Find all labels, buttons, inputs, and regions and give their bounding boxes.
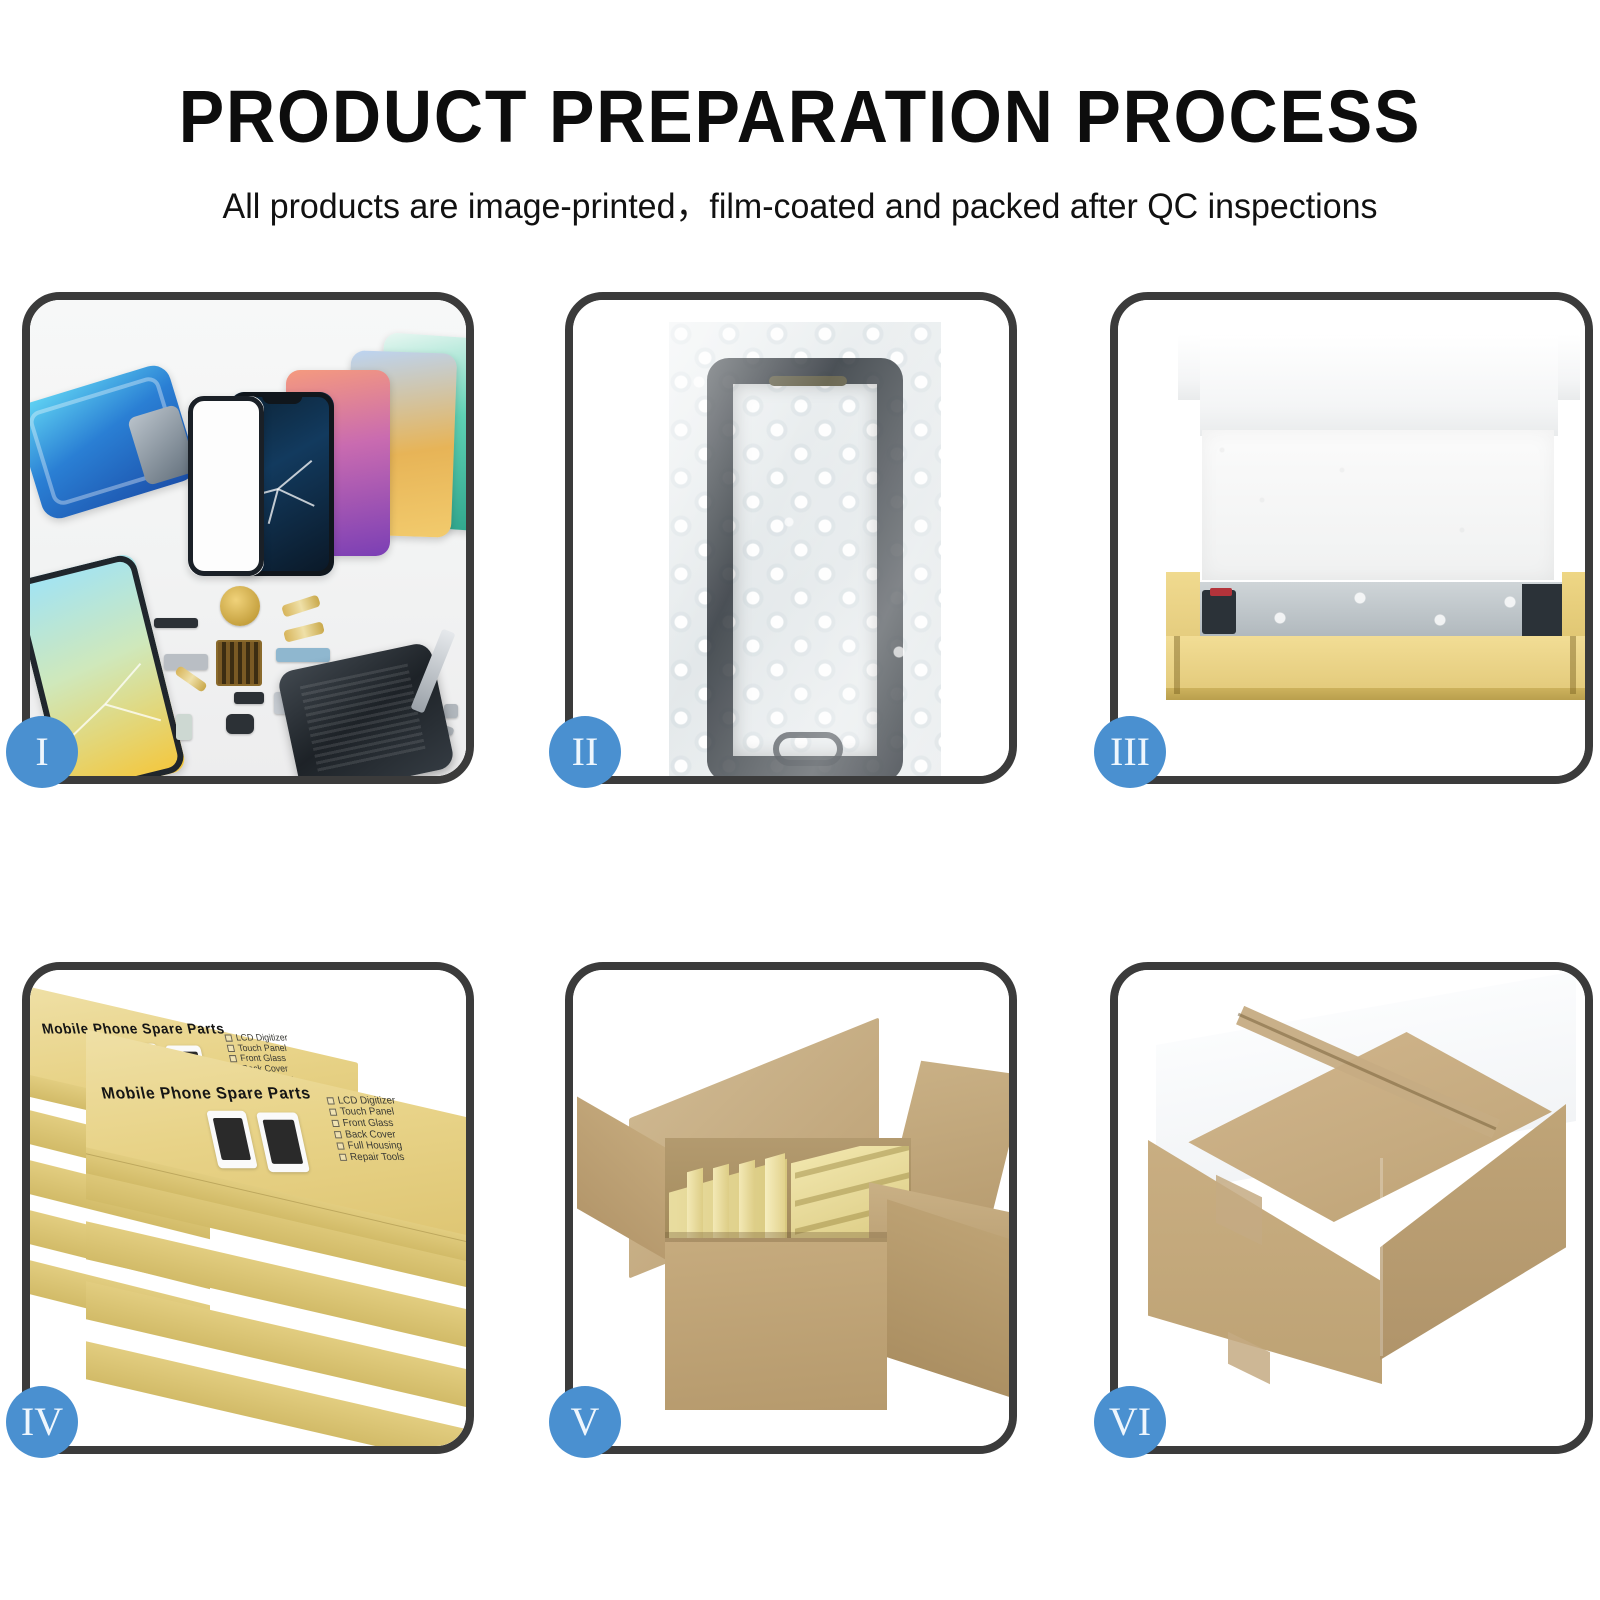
poster-root: PRODUCT PREPARATION PROCESS All products…: [0, 0, 1600, 1600]
step-badge-3: III: [1094, 716, 1166, 788]
checklist-item: LCD Digitizer: [235, 1032, 289, 1042]
panel-5-image: [573, 970, 1009, 1446]
panel-4-image: Mobile Phone Spare Parts LCD Digitizer T…: [30, 970, 466, 1446]
checklist-item: LCD Digitizer: [337, 1095, 397, 1106]
stacked-gold-boxes-icon: Mobile Phone Spare Parts LCD Digitizer T…: [30, 970, 466, 1446]
process-step-3[interactable]: III: [1110, 292, 1593, 784]
checklist-item: Full Housing: [347, 1140, 404, 1151]
process-step-6[interactable]: VI: [1110, 962, 1593, 1454]
step-badge-6: VI: [1094, 1386, 1166, 1458]
process-step-4[interactable]: Mobile Phone Spare Parts LCD Digitizer T…: [22, 962, 474, 1454]
checklist-item: Touch Panel: [339, 1107, 395, 1118]
step-badge-4: IV: [6, 1386, 78, 1458]
phone-parts-collage-icon: [30, 300, 466, 776]
step-badge-5: V: [549, 1386, 621, 1458]
sealed-carton-icon: [1118, 970, 1585, 1446]
checklist-item: Back Cover: [344, 1129, 397, 1140]
bubble-wrapped-screen-icon: [573, 300, 1009, 776]
retail-box-brand-text: Mobile Phone Spare Parts: [100, 1085, 313, 1103]
open-carton-icon: [573, 970, 1009, 1446]
process-step-5[interactable]: V: [565, 962, 1017, 1454]
process-grid: I II: [0, 0, 1600, 1600]
process-step-2[interactable]: II: [565, 292, 1017, 784]
step-badge-2: II: [549, 716, 621, 788]
step-badge-1: I: [6, 716, 78, 788]
checklist-item: Front Glass: [342, 1118, 395, 1129]
panel-1-image: [30, 300, 466, 776]
checklist-item: Repair Tools: [349, 1152, 405, 1163]
panel-2-image: [573, 300, 1009, 776]
checklist-item: Touch Panel: [237, 1043, 288, 1053]
panel-6-image: [1118, 970, 1585, 1446]
process-step-1[interactable]: I: [22, 292, 474, 784]
open-mailer-box-icon: [1118, 300, 1585, 776]
panel-3-image: [1118, 300, 1585, 776]
